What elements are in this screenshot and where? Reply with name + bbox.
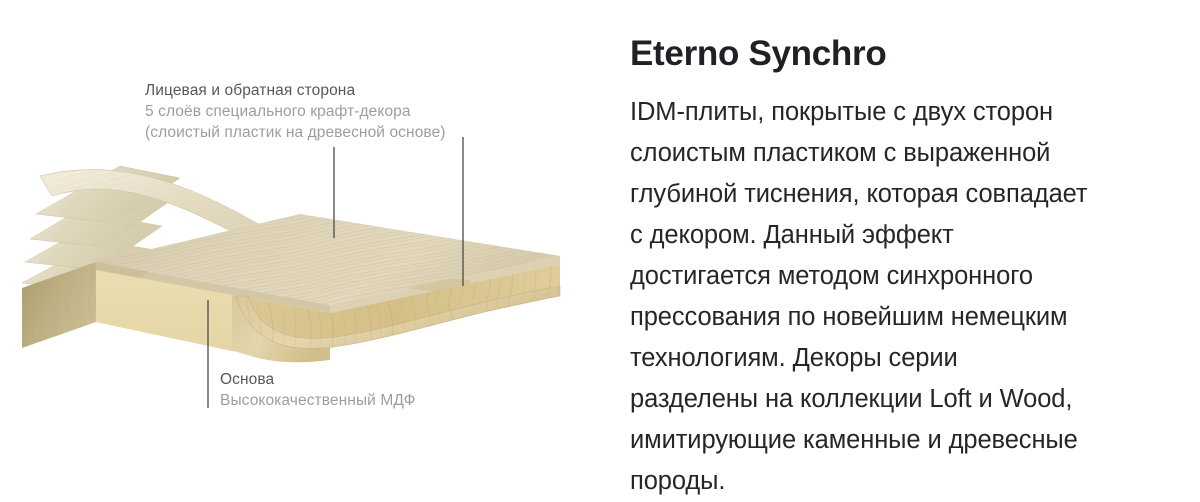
product-title: Eterno Synchro xyxy=(630,34,886,74)
product-info-panel: Лицевая и обратная сторона 5 слоёв специ… xyxy=(0,0,1200,465)
callout-core-title: Основа xyxy=(220,369,416,390)
description-line: глубиной тиснения, которая совпадает xyxy=(630,174,1160,215)
description-line: породы. xyxy=(630,461,1160,502)
description-line: IDM-плиты, покрытые с двух сторон xyxy=(630,92,1160,133)
description-line: технологиям. Декоры серии xyxy=(630,338,1160,379)
description-line: прессования по новейшим немецким xyxy=(630,297,1160,338)
callout-core-line-1: Высококачественный МДФ xyxy=(220,390,416,411)
callout-face-line-2: (слоистый пластик на древесной основе) xyxy=(145,122,446,143)
product-description: IDM-плиты, покрытые с двух сторон слоист… xyxy=(630,92,1160,502)
description-line: имитирующие каменные и древесные xyxy=(630,420,1160,461)
callout-face-title: Лицевая и обратная сторона xyxy=(145,80,446,101)
description-line: с декором. Данный эффект xyxy=(630,215,1160,256)
callout-face-line-1: 5 слоёв специального крафт-декора xyxy=(145,101,446,122)
description-line: достигается методом синхронного xyxy=(630,256,1160,297)
description-line: слоистым пластиком с выраженной xyxy=(630,133,1160,174)
callout-face-and-back: Лицевая и обратная сторона 5 слоёв специ… xyxy=(145,80,446,143)
product-description-column: Eterno Synchro IDM-плиты, покрытые с дву… xyxy=(630,0,1170,465)
callout-core: Основа Высококачественный МДФ xyxy=(220,369,416,411)
description-line: разделены на коллекции Loft и Wood, xyxy=(630,379,1160,420)
